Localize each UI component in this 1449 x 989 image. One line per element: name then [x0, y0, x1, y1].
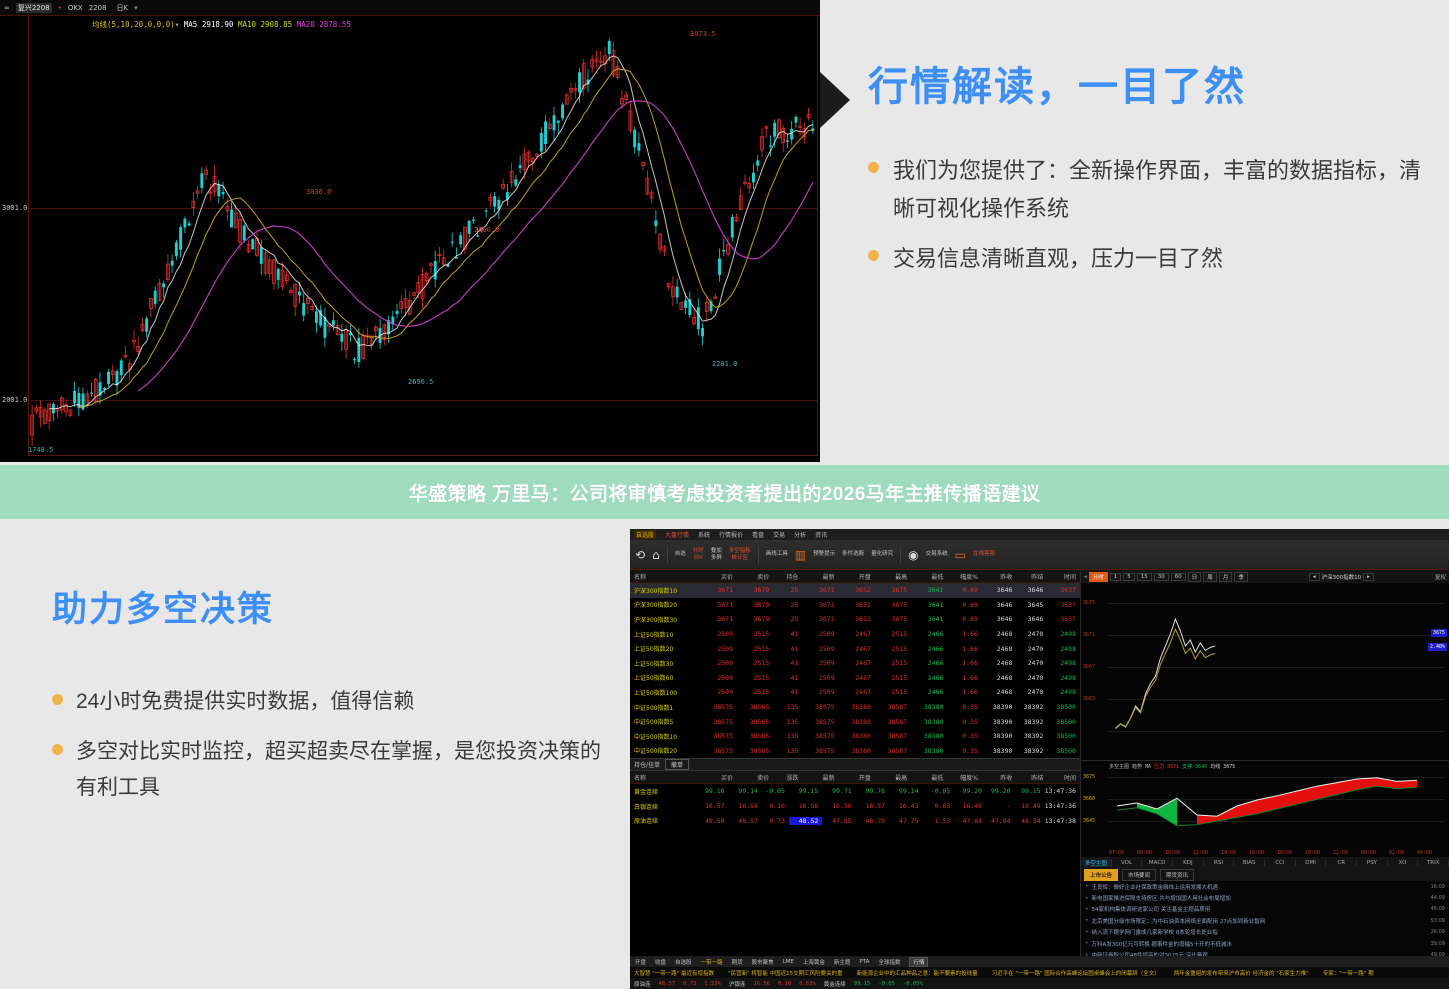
table-cell: 16.46 — [954, 802, 986, 810]
table-cell: 2509 — [701, 688, 737, 696]
indicator-tab-CCI[interactable]: CCI — [1265, 860, 1296, 866]
indicator-tab-DMI[interactable]: DMI — [1296, 860, 1327, 866]
table-cell: 47.84 — [986, 817, 1015, 825]
nav-item[interactable]: 股市聚焦 — [752, 958, 774, 966]
table-cell: 38380 — [911, 732, 947, 740]
news-tab-期货资讯[interactable]: 期货资讯 — [1160, 869, 1194, 881]
table-cell: 3675 — [875, 601, 911, 609]
status-price: 99.15 — [854, 981, 871, 987]
table-row[interactable]: 上证50指数20250925154125092467251524661.6624… — [630, 641, 1080, 656]
bullet-dot-icon: • — [1085, 940, 1089, 947]
divider — [900, 546, 901, 564]
table-cell: 38575 — [802, 718, 838, 726]
table-cell: 2515 — [875, 688, 911, 696]
monitor-icon[interactable]: ▭ — [955, 549, 966, 561]
quote-table-panel: 名称买价卖价持仓最新开盘最高最低幅度%昨收昨结时间 沪深300指数1036713… — [630, 570, 1080, 956]
table-cell: 38390 — [982, 703, 1016, 711]
table-cell: 99.15 — [789, 787, 822, 795]
news-ticker: 大智慧 "一带一路" 最近有增指数"民营新" 将智能 中国近15交期汇风险要关的… — [630, 967, 1449, 978]
toolbar-label-indicator[interactable]: 多空指标 统计区 — [729, 548, 751, 561]
prev-symbol-button[interactable]: ◂ — [1309, 573, 1320, 581]
chart-x-label: 08:00 — [1137, 850, 1152, 856]
table-cell: 2468 — [982, 688, 1016, 696]
table-row[interactable]: 上证50指数60250925154125092467251524661.6624… — [630, 671, 1080, 686]
next-symbol-button[interactable]: ▸ — [1363, 573, 1374, 581]
table-row[interactable]: 沪深300指数20367136792536713652367536410.693… — [630, 598, 1080, 613]
table-cell: 2498 — [1047, 645, 1080, 653]
divider — [667, 546, 668, 564]
nav-item[interactable]: 全球指数 — [878, 958, 900, 966]
table-cell: 41 — [773, 659, 802, 667]
table-cell: 48.70 — [856, 817, 889, 825]
timeframe-1[interactable]: 1 — [1110, 573, 1122, 581]
column-header[interactable]: 卖价 — [737, 773, 773, 782]
bullet-dot-icon — [52, 694, 63, 705]
status-symbol: 原油连 — [634, 980, 651, 988]
instrument-name[interactable]: 黄金连续 — [630, 787, 695, 796]
list-item[interactable]: •54家机构集体调研这家公司 关注基金主题品质用45:09 — [1081, 904, 1449, 915]
indicator-tab-KDJ[interactable]: KDJ — [1173, 860, 1204, 866]
table-cell: 2509 — [802, 674, 838, 682]
ticker-item[interactable]: 习近平在 "一带一路" 国际合作高峰论坛圆桌峰会上的闭幕辞（全文） — [992, 969, 1160, 977]
table-cell: 38587 — [875, 703, 911, 711]
nav-item[interactable]: 收盘 — [655, 958, 666, 966]
bullet-dot-icon — [868, 162, 879, 173]
nav-item[interactable]: 新主题 — [834, 958, 851, 966]
news-tab-市场要闻[interactable]: 市场要闻 — [1122, 869, 1156, 881]
home-icon[interactable]: ⌂ — [652, 549, 660, 561]
kline-annotation: 2696.5 — [408, 378, 433, 386]
table-cell: 3675 — [875, 586, 911, 594]
chart-icon[interactable]: ▥ — [795, 549, 806, 561]
table-cell: 47.84 — [954, 817, 986, 825]
table-cell: 3637 — [1047, 601, 1080, 609]
menu-item[interactable]: 看盘 — [752, 530, 764, 539]
table-row[interactable]: 沪深300指数10367136792536713652367536410.693… — [630, 583, 1080, 598]
table-cell: 25 — [773, 586, 802, 594]
terminal-statusbar: 原油连48.570.731.53%沪银连16.560.100.63%黄金连续99… — [630, 978, 1449, 989]
ticker-item[interactable]: 两年金重组的发布带来沪市高价 经济金的 "石家生力推" — [1174, 969, 1309, 977]
bulb-icon[interactable]: ◉ — [908, 549, 918, 561]
bullet-dot-icon: • — [1085, 906, 1089, 913]
chart-x-label: 18:00 — [1277, 850, 1292, 856]
table-cell: 2515 — [875, 645, 911, 653]
instrument-name[interactable]: 沪深300指数10 — [630, 586, 701, 595]
table-row[interactable]: 上证50指数30250925154125092467251524661.6624… — [630, 656, 1080, 671]
menu-item[interactable]: 行情报价 — [719, 530, 743, 539]
table-cell: 0.69 — [947, 586, 981, 594]
table-cell: 3641 — [911, 601, 947, 609]
instrument-name[interactable]: 上证50指数60 — [630, 673, 701, 682]
table-row[interactable]: 沪深300指数30367136792536713652367536410.693… — [630, 612, 1080, 627]
column-header[interactable]: 时间 — [1047, 773, 1080, 782]
table-cell: 99.15 — [1015, 787, 1045, 795]
indicator-area — [1081, 761, 1449, 849]
chart-toolbar: ◂分时15153060日周月季◂沪深300指数10▸复权 — [1081, 570, 1449, 583]
table-cell: 3671 — [701, 586, 737, 594]
table-cell: 38380 — [911, 703, 947, 711]
toolbar-label-condition[interactable]: 条件选股 — [842, 551, 864, 557]
column-header[interactable]: 涨跌 — [773, 773, 802, 782]
table-cell: 3652 — [839, 601, 875, 609]
table-cell: 38380 — [911, 718, 947, 726]
indicator-chart: 多空主图 趋势 MA 压力 3671 支撑 3646 均线 3675 3675 … — [1081, 761, 1449, 849]
chart-x-label: 16:00 — [1249, 850, 1264, 856]
table-cell: 0.10 — [762, 802, 789, 810]
news-tabbar: 上市公告市场要闻期货资讯 — [1081, 868, 1449, 881]
timeframe-5[interactable]: 5 — [1123, 573, 1135, 581]
column-header[interactable]: 昨收 — [982, 773, 1016, 782]
table-cell: 38575 — [701, 732, 737, 740]
instrument-name[interactable]: 中证500指数20 — [630, 746, 701, 755]
table-cell: 3637 — [1047, 615, 1080, 623]
chart-x-label: 00:00 — [1361, 850, 1376, 856]
table-cell: 38390 — [982, 747, 1016, 755]
instrument-name[interactable]: 沪深300指数20 — [630, 600, 701, 609]
table-cell: 38575 — [802, 732, 838, 740]
list-item[interactable]: •王良辉：做好企业社保政策金融线上运用发展大机遇16:09 — [1081, 881, 1449, 892]
chart-x-label: 20:00 — [1305, 850, 1320, 856]
bullet-dot-icon: • — [1085, 895, 1089, 902]
column-header[interactable]: 最高 — [875, 773, 911, 782]
news-title[interactable]: 万科A发300亿元可转换 据事件金的增幅5十开的不低减水 — [1092, 940, 1233, 948]
status-percent: 1.53% — [704, 981, 721, 987]
table-cell: -0.05 — [923, 787, 955, 795]
timeframe-日[interactable]: 日 — [1188, 572, 1202, 582]
ticker-item[interactable]: 专家："一带一路" 期 — [1323, 969, 1374, 977]
table-cell: 16.50 — [822, 802, 855, 810]
table-cell: 2466 — [911, 674, 947, 682]
bottom-heading: 助力多空决策 — [52, 581, 612, 632]
table-cell: 2468 — [982, 645, 1016, 653]
table-cell: 38575 — [802, 747, 838, 755]
news-title[interactable]: 王良辉：做好企业社保政策金融线上运用发展大机遇 — [1092, 883, 1219, 891]
timeframe-月[interactable]: 月 — [1219, 572, 1233, 582]
bottom-section: 助力多空决策 24小时免费提供实时数据，值得信赖 多空对比实时监控，超买超卖尽在… — [0, 519, 1449, 989]
table-cell: 2498 — [1047, 674, 1080, 682]
indicator-xaxis: 07:0008:0010:0012:0014:0016:0018:0020:00… — [1081, 849, 1449, 857]
table-cell: 2515 — [737, 630, 773, 638]
column-header[interactable]: 买价 — [701, 572, 737, 581]
toolbar-label-layout[interactable]: 叠加 多屏 — [711, 548, 722, 561]
status-change: 0.10 — [778, 981, 791, 987]
kline-annotation: 2650.0 — [474, 226, 499, 234]
price-tag: 3675 — [1431, 629, 1447, 637]
timeframe-15[interactable]: 15 — [1137, 573, 1152, 581]
table-cell: 2515 — [737, 645, 773, 653]
column-header[interactable]: 幅度% — [947, 572, 981, 581]
column-header[interactable]: 最高 — [875, 572, 911, 581]
table-row[interactable]: 上证50指数100250925154125092467251524661.662… — [630, 685, 1080, 700]
table-cell: 1.66 — [947, 645, 981, 653]
indicator-tab-PSY[interactable]: PSY — [1357, 860, 1388, 866]
table-row[interactable]: 中证500指数103857538565135385753838038587383… — [630, 729, 1080, 744]
table-cell: 38392 — [1016, 703, 1047, 711]
nav-item[interactable]: 期货 — [732, 958, 743, 966]
chart-x-label: 14:00 — [1221, 850, 1236, 856]
instrument-name[interactable]: 白银连续 — [630, 802, 695, 811]
table-cell: 2509 — [701, 645, 737, 653]
indicator-tab-VOL[interactable]: VOL — [1112, 860, 1143, 866]
table-cell: 0.69 — [947, 601, 981, 609]
table-cell: 2467 — [839, 688, 875, 696]
sub-table-body: 黄金连续99.1699.14-0.0599.1599.7199.7699.14-… — [630, 784, 1080, 828]
table-cell: 1.53 — [923, 817, 955, 825]
toolbar-label-alert[interactable]: 预警提示 — [813, 551, 835, 557]
table-cell: 38587 — [875, 732, 911, 740]
table-cell: 3671 — [802, 615, 838, 623]
table-cell: 16.56 — [789, 802, 822, 810]
column-header[interactable]: 时间 — [1047, 572, 1080, 581]
indicator-tab-XO[interactable]: XO — [1388, 860, 1419, 866]
terminal-toolbar: ⟲ ⌂ 自选 分时 日K 叠加 多屏 多空指标 统计区 画线工具 ▥ 预警提示 … — [630, 540, 1449, 570]
table-cell-time: 13:47:36 — [1045, 787, 1080, 795]
ticker-item[interactable]: 新能源企业中的汇品种品之意：能不要素的投线量 — [857, 969, 978, 977]
column-header[interactable]: 最低 — [911, 572, 947, 581]
top-bullet-text: 交易信息清晰直观，压力一目了然 — [893, 240, 1223, 278]
instrument-name[interactable]: 原油连续 — [630, 816, 695, 825]
menu-item-market[interactable]: 大盘行情 — [665, 530, 689, 539]
chart-collapse-icon[interactable]: ◂ — [1084, 574, 1087, 580]
table-row[interactable]: 黄金连续99.1699.14-0.0599.1599.7199.7699.14-… — [630, 784, 1080, 799]
timeframe-60[interactable]: 60 — [1171, 573, 1186, 581]
nav-item[interactable]: 上海黄金 — [803, 958, 825, 966]
table-cell: 3679 — [737, 601, 773, 609]
column-header[interactable]: 昨收 — [982, 572, 1016, 581]
timeframe-季[interactable]: 季 — [1234, 572, 1248, 582]
table-row[interactable]: 上证50指数10250925154125092467251524661.6624… — [630, 627, 1080, 642]
instrument-name[interactable]: 中证500指数1 — [630, 703, 701, 712]
table-cell: 0.35 — [947, 732, 981, 740]
ticker-item[interactable]: "民营新" 将智能 中国近15交期汇风险要关的重 — [728, 969, 843, 977]
column-header[interactable]: 开盘 — [839, 572, 875, 581]
column-header[interactable]: 名称 — [630, 773, 701, 782]
list-item[interactable]: •新电国家推进保障支持房区 共与增加国人用社会布局增加44:09 — [1081, 892, 1449, 903]
pointer-arrow-right-icon — [820, 72, 850, 128]
column-header[interactable]: 开盘 — [839, 773, 875, 782]
chart-x-label: 22:00 — [1333, 850, 1348, 856]
nav-item[interactable]: LME — [783, 959, 794, 965]
quote-table-header: 名称买价卖价持仓最新开盘最高最低幅度%昨收昨结时间 — [630, 570, 1080, 583]
list-item: 24小时免费提供实时数据，值得信赖 — [52, 684, 612, 720]
table-cell: 99.16 — [695, 787, 728, 795]
table-cell: 2470 — [1016, 630, 1047, 638]
column-header[interactable]: 持仓 — [773, 572, 802, 581]
positions-tabbar: 持仓/挂单 撤单 — [630, 758, 1080, 771]
bottom-bullet-text: 多空对比实时监控，超买超卖尽在掌握，是您投资决策的有利工具 — [76, 734, 612, 806]
indicator-tab-RSI[interactable]: RSI — [1204, 860, 1235, 866]
toolbar-label-support[interactable]: 在线客服 — [973, 551, 995, 557]
bottom-copy-block: 助力多空决策 24小时免费提供实时数据，值得信赖 多空对比实时监控，超买超卖尽在… — [52, 581, 612, 820]
table-cell: 38575 — [701, 747, 737, 755]
table-cell: 38390 — [982, 718, 1016, 726]
table-cell: 2466 — [911, 630, 947, 638]
news-title[interactable]: 54家机构集体调研这家公司 关注基金主题品质用 — [1092, 905, 1211, 913]
nav-item[interactable]: 自选股 — [675, 958, 692, 966]
timeframe-周[interactable]: 周 — [1203, 572, 1217, 582]
table-cell: 2509 — [802, 688, 838, 696]
indicator-tabbar: 多空主图VOLMACDKDJRSIBIASCCIDMICRPSYXOTRIX — [1081, 857, 1449, 868]
news-time: 44:09 — [1431, 895, 1449, 901]
list-item: 我们为您提供了：全新操作界面，丰富的数据指标，清晰可视化操作系统 — [868, 152, 1438, 228]
indicator-tab-BIAS[interactable]: BIAS — [1234, 860, 1265, 866]
table-cell: 38587 — [875, 718, 911, 726]
instrument-name[interactable]: 上证50指数30 — [630, 659, 701, 668]
table-cell: 99.20 — [954, 787, 986, 795]
toolbar-label-period[interactable]: 分时 日K — [693, 548, 704, 561]
bullet-dot-icon: • — [1085, 929, 1089, 936]
column-header[interactable]: 最低 — [911, 773, 947, 782]
news-time: 39:09 — [1431, 941, 1449, 947]
nav-item[interactable]: PTA — [859, 959, 869, 965]
toolbar-label-trading-system[interactable]: 交易系统 — [926, 551, 948, 557]
price-change-tag: 2.40% — [1428, 643, 1447, 651]
status-price: 16.56 — [753, 981, 770, 987]
menu-item[interactable]: 交易 — [773, 530, 785, 539]
status-symbol: 黄金连续 — [824, 980, 846, 988]
table-cell: 3646 — [1016, 586, 1047, 594]
table-cell: 135 — [773, 747, 802, 755]
instrument-name[interactable]: 沪深300指数30 — [630, 615, 701, 624]
table-row[interactable]: 中证500指数538575385651353857538380385873838… — [630, 714, 1080, 729]
table-cell: 2467 — [839, 674, 875, 682]
table-cell: 38565 — [737, 718, 773, 726]
table-cell: 3675 — [875, 615, 911, 623]
quote-table-body: 沪深300指数10367136792536713652367536410.693… — [630, 583, 1080, 758]
sub-table-header: 名称买价卖价涨跌最新开盘最高最低幅度%昨收昨结时间 — [630, 771, 1080, 784]
table-row[interactable]: 中证500指数203857538565135385753838038587383… — [630, 744, 1080, 759]
table-cell: 3671 — [701, 601, 737, 609]
bullet-dot-icon: • — [1085, 917, 1089, 924]
column-header[interactable]: 卖价 — [737, 572, 773, 581]
column-header[interactable]: 昨结 — [1016, 572, 1047, 581]
list-item[interactable]: •纳入流下跟学网门露成几家新学校 8本轮增长处业指26:09 — [1081, 927, 1449, 938]
table-cell: 3646 — [982, 586, 1016, 594]
toolbar-label-quant[interactable]: 量化研究 — [871, 551, 893, 557]
kline-annotation: 3036.0 — [306, 188, 331, 196]
instrument-name[interactable]: 上证50指数100 — [630, 688, 701, 697]
bullet-dot-icon: • — [1085, 883, 1089, 890]
column-header[interactable]: 名称 — [630, 572, 701, 581]
positions-tab-label[interactable]: 持仓/挂单 — [634, 760, 660, 769]
table-cell: 38575 — [802, 703, 838, 711]
table-cell: 1.66 — [947, 659, 981, 667]
column-header[interactable]: 最新 — [802, 572, 838, 581]
column-header[interactable]: 最新 — [802, 773, 838, 782]
table-row[interactable]: 原油连续48.5848.570.7348.5247.8548.7047.751.… — [630, 813, 1080, 828]
instrument-name[interactable]: 中证500指数5 — [630, 717, 701, 726]
indicator-tab-TRIX[interactable]: TRIX — [1418, 860, 1449, 866]
column-header[interactable]: 昨结 — [1016, 773, 1047, 782]
table-cell: 16.49 — [1015, 802, 1045, 810]
table-cell: 2466 — [911, 659, 947, 667]
indicator-tab-多空主图[interactable]: 多空主图 — [1081, 859, 1112, 867]
table-cell: 41 — [773, 674, 802, 682]
kline-candles — [0, 0, 820, 462]
table-cell: 2515 — [737, 659, 773, 667]
table-cell: 135 — [773, 732, 802, 740]
list-item[interactable]: •万科A发300亿元可转换 据事件金的增幅5十开的不低减水39:09 — [1081, 938, 1449, 949]
table-cell: 2470 — [1016, 659, 1047, 667]
nav-item[interactable]: 一带一路 — [701, 958, 723, 966]
table-cell: 3646 — [1016, 615, 1047, 623]
table-cell: 2515 — [875, 659, 911, 667]
table-cell: 38500 — [1047, 732, 1080, 740]
instrument-name[interactable]: 上证50指数20 — [630, 644, 701, 653]
table-cell: 38565 — [737, 732, 773, 740]
table-row[interactable]: 中证500指数138575385651353857538380385873838… — [630, 700, 1080, 715]
bottom-bullet-list: 24小时免费提供实时数据，值得信赖 多空对比实时监控，超买超卖尽在掌握，是您投资… — [52, 684, 612, 806]
indicator-tab-CR[interactable]: CR — [1326, 860, 1357, 866]
table-cell: 2498 — [1047, 688, 1080, 696]
menu-item[interactable]: 资讯 — [815, 530, 827, 539]
instrument-name[interactable]: 中证500指数10 — [630, 732, 701, 741]
table-cell: 3679 — [737, 586, 773, 594]
table-row[interactable]: 白银连续16.5716.560.1016.5616.5016.5716.430.… — [630, 799, 1080, 814]
column-header[interactable]: 幅度% — [947, 773, 981, 782]
table-cell: 2470 — [1016, 645, 1047, 653]
list-item[interactable]: •北京美国分级市场限定：为中石油资本网络全面配用 27点加到新业智网53:09 — [1081, 915, 1449, 926]
chart-x-label: 12:00 — [1193, 850, 1208, 856]
chart-adjust-label[interactable]: 复权 — [1435, 573, 1446, 581]
news-title[interactable]: 北京美国分级市场限定：为中石油资本网络全面配用 27点加到新业智网 — [1092, 917, 1266, 925]
table-cell: 2468 — [982, 674, 1016, 682]
table-cell: 48.57 — [729, 817, 762, 825]
instrument-name[interactable]: 上证50指数10 — [630, 630, 701, 639]
news-tab-上市公告[interactable]: 上市公告 — [1084, 869, 1118, 881]
news-title[interactable]: 纳入流下跟学网门露成几家新学校 8本轮增长处业指 — [1092, 928, 1218, 936]
news-time: 45:09 — [1431, 906, 1449, 912]
timeframe-分时[interactable]: 分时 — [1089, 572, 1108, 582]
status-percent: -0.05% — [903, 981, 923, 987]
table-cell: 38392 — [1016, 747, 1047, 755]
table-cell: 2467 — [839, 645, 875, 653]
undo-icon[interactable]: ⟲ — [635, 549, 645, 561]
menu-item[interactable]: 分析 — [794, 530, 806, 539]
cancel-order-button[interactable]: 撤单 — [665, 759, 689, 770]
status-percent: 0.63% — [799, 981, 816, 987]
bullet-dot-icon — [868, 250, 879, 261]
table-cell: 2515 — [875, 630, 911, 638]
table-cell: 3646 — [982, 601, 1016, 609]
indicator-tab-MACD[interactable]: MACD — [1142, 860, 1173, 866]
table-cell: 3641 — [911, 615, 947, 623]
status-change: -0.05 — [878, 981, 895, 987]
status-symbol: 沪银连 — [729, 980, 746, 988]
table-cell: 16.57 — [695, 802, 728, 810]
table-cell: 0.63 — [923, 802, 955, 810]
table-cell: 38565 — [737, 703, 773, 711]
timeframe-30[interactable]: 30 — [1154, 573, 1169, 581]
headline-banner: 华盛策略 万里马：公司将审慎考虑投资者提出的2026马年主推传播语建议 — [0, 465, 1449, 519]
table-cell: 2509 — [802, 645, 838, 653]
toolbar-label-watchlist[interactable]: 自选 — [675, 551, 686, 557]
menu-item[interactable]: 系统 — [698, 530, 710, 539]
table-cell: 38392 — [1016, 718, 1047, 726]
toolbar-label-drawtools[interactable]: 画线工具 — [766, 551, 788, 557]
column-header[interactable]: 买价 — [701, 773, 737, 782]
table-cell: 38380 — [839, 703, 875, 711]
nav-item[interactable]: 开盘 — [635, 958, 646, 966]
table-cell: 2470 — [1016, 674, 1047, 682]
ticker-item[interactable]: 大智慧 "一带一路" 最近有增指数 — [634, 969, 714, 977]
news-title[interactable]: 新电国家推进保障支持房区 共与增加国人用社会布局增加 — [1092, 894, 1231, 902]
table-cell: 1.66 — [947, 688, 981, 696]
menu-item-watchlist[interactable]: 自选股 — [634, 530, 656, 539]
table-cell: 25 — [773, 615, 802, 623]
nav-badge[interactable]: 行情 — [909, 957, 928, 967]
table-cell: 3637 — [1047, 586, 1080, 594]
